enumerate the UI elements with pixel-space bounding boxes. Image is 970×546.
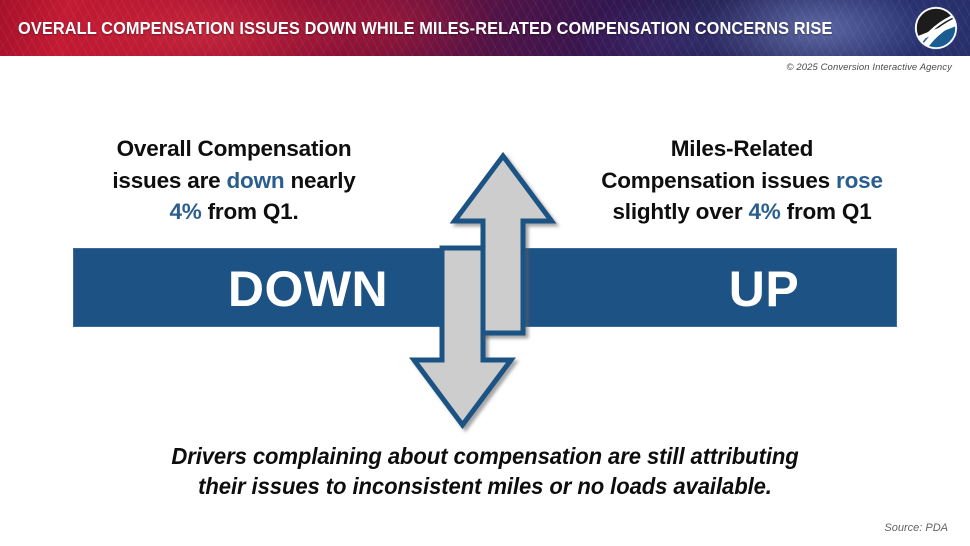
callout-overall-compensation: Overall Compensation issues are down nea… [66, 133, 402, 228]
banner-label-down: DOWN [178, 249, 438, 328]
conversion-interactive-agency-logo-icon [914, 6, 958, 50]
footnote-text: Drivers complaining about compensation a… [0, 441, 970, 502]
callout-right-line2-a: Compensation issues [601, 168, 836, 193]
callout-right-accent-percent: 4% [748, 199, 780, 224]
callout-left-line3: 4% from Q1. [66, 196, 402, 228]
header-bar: OVERALL COMPENSATION ISSUES DOWN WHILE M… [0, 0, 970, 56]
slide-canvas: OVERALL COMPENSATION ISSUES DOWN WHILE M… [0, 0, 970, 546]
callout-right-line2: Compensation issues rose [572, 165, 912, 197]
callout-left-line2-a: issues are [112, 168, 226, 193]
callout-right-accent-rose: rose [836, 168, 883, 193]
callout-left-line3-b: from Q1. [202, 199, 299, 224]
page-title: OVERALL COMPENSATION ISSUES DOWN WHILE M… [18, 0, 832, 56]
source-citation: Source: PDA [884, 522, 948, 534]
callout-miles-related-compensation: Miles-Related Compensation issues rose s… [572, 133, 912, 228]
callout-right-line3: slightly over 4% from Q1 [572, 196, 912, 228]
callout-left-line2-b: nearly [284, 168, 355, 193]
footnote-line2: their issues to inconsistent miles or no… [19, 471, 950, 501]
callout-left-line2: issues are down nearly [66, 165, 402, 197]
callout-right-line3-a: slightly over [612, 199, 748, 224]
down-up-banner: DOWN UP [73, 248, 897, 327]
callout-left-accent-down: down [227, 168, 285, 193]
callout-left-line1: Overall Compensation [66, 133, 402, 165]
callout-right-line1: Miles-Related [572, 133, 912, 165]
footnote-line1: Drivers complaining about compensation a… [19, 441, 950, 471]
copyright-notice: © 2025 Conversion Interactive Agency [786, 62, 952, 73]
callout-left-accent-percent: 4% [169, 199, 201, 224]
callout-right-line3-b: from Q1 [781, 199, 872, 224]
banner-label-up: UP [634, 249, 894, 328]
